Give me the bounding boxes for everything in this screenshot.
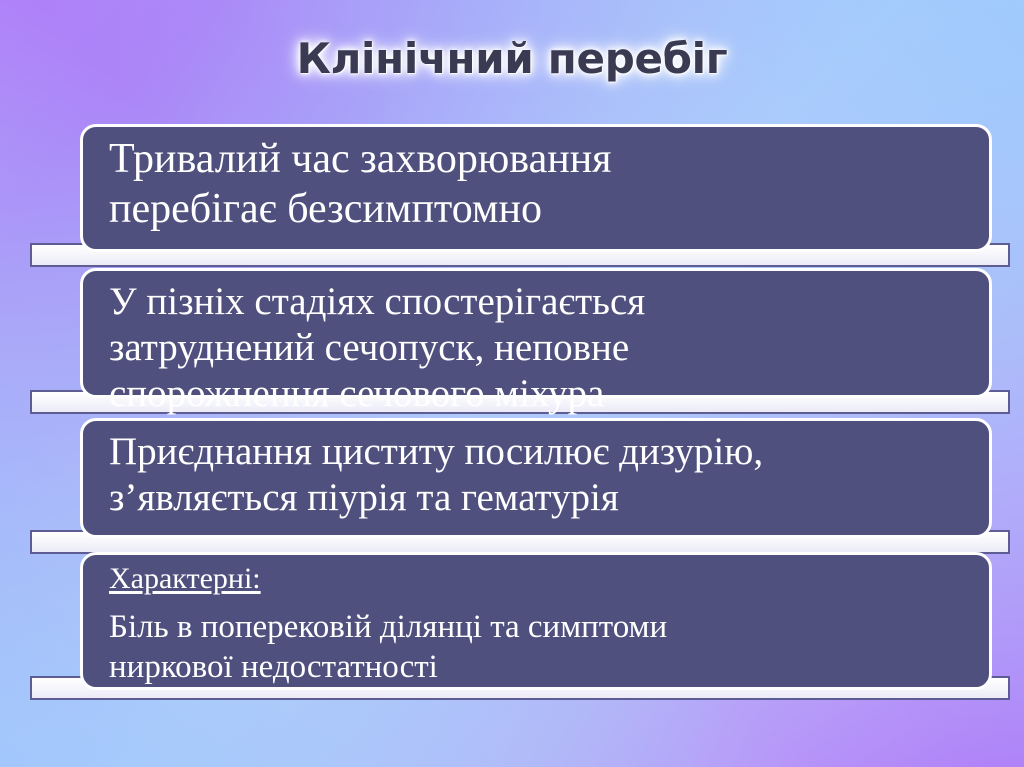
content-line: затруднений сечопуск, неповне (109, 325, 967, 371)
content-box-4: Характерні: Біль в поперековій ділянці т… (80, 552, 992, 690)
slide-canvas: Клінічний перебіг Тривалий час захворюва… (0, 0, 1024, 767)
content-line: У пізніх стадіях спостерігається (109, 279, 967, 325)
content-line: ниркової недостатності (109, 648, 967, 688)
content-line: Тривалий час захворювання (109, 135, 967, 185)
content-box-4-body: Біль в поперековій ділянці та симптоми н… (109, 608, 967, 687)
content-box-2: У пізніх стадіях спостерігається затрудн… (80, 268, 992, 398)
content-line: спорожнення сечового міхура (109, 371, 967, 417)
content-box-4-heading: Характерні: (109, 561, 967, 596)
content-box-1: Тривалий час захворювання перебігає безс… (80, 124, 992, 252)
content-box-3: Приєднання циститу посилює дизурію, з’яв… (80, 418, 992, 538)
content-line: Приєднання циститу посилює дизурію, (109, 429, 967, 475)
content-line: з’являється піурія та гематурія (109, 475, 967, 521)
content-line: Біль в поперековій ділянці та симптоми (109, 608, 967, 648)
page-title: Клінічний перебіг (0, 34, 1024, 83)
content-line: перебігає безсимптомно (109, 185, 967, 235)
